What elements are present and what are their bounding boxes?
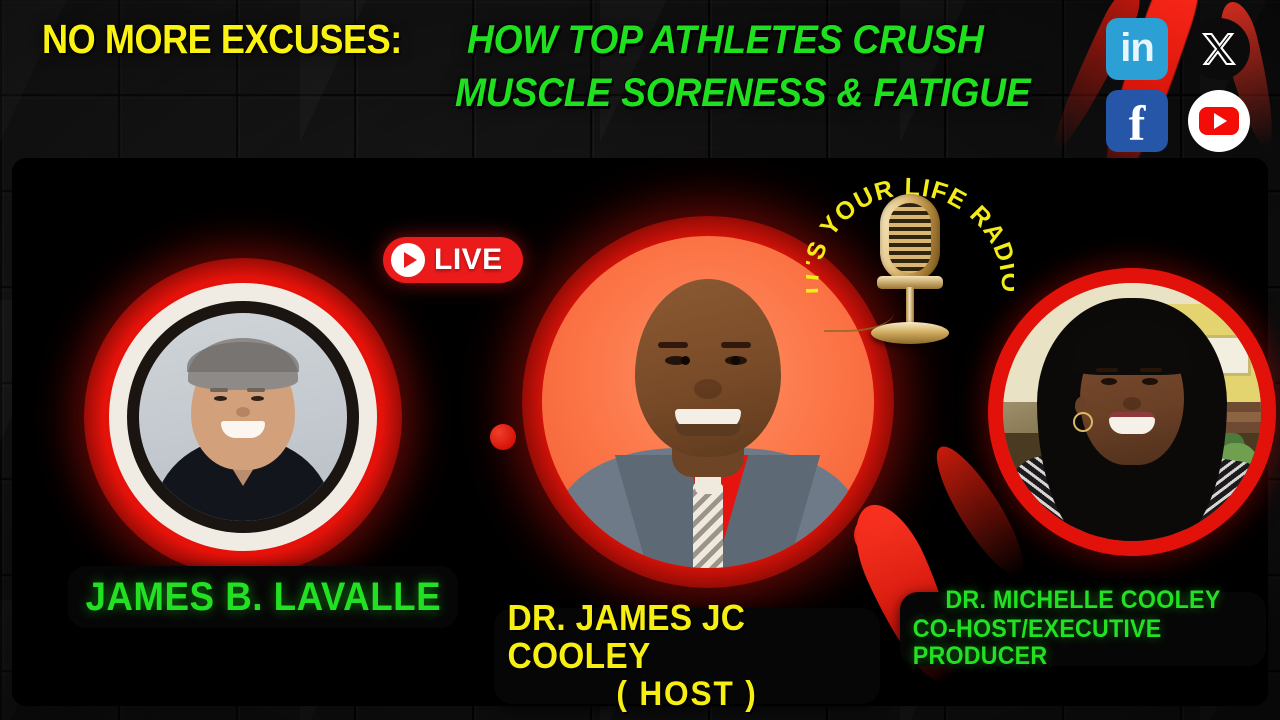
youtube-icon[interactable]	[1188, 90, 1250, 152]
headline-line-2: MUSCLE SORENESS & FATIGUE	[455, 71, 1030, 116]
avatar-photo-james-lavalle	[139, 313, 347, 521]
live-play-triangle	[404, 252, 417, 268]
nameplate-center-role: ( HOST )	[616, 677, 757, 713]
x-glyph	[1201, 31, 1237, 67]
avatar-ring-white	[109, 283, 377, 551]
headline-lead: NO MORE EXCUSES:	[42, 16, 402, 63]
microphone-icon	[870, 194, 950, 344]
nameplate-center-name: DR. JAMES JC COOLEY	[508, 599, 867, 675]
avatar-michelle-cooley[interactable]	[988, 268, 1276, 556]
linkedin-glyph: in	[1120, 28, 1154, 68]
live-label: LIVE	[434, 245, 503, 275]
youtube-play-triangle	[1214, 113, 1227, 129]
microphone-head	[880, 194, 940, 282]
live-play-icon	[391, 243, 425, 277]
facebook-icon[interactable]: f	[1106, 90, 1168, 152]
facebook-glyph: f	[1129, 98, 1146, 148]
avatar-photo-michelle-cooley	[1003, 283, 1261, 541]
nameplate-michelle-cooley: DR. MICHELLE COOLEY CO-HOST/EXECUTIVE PR…	[900, 592, 1266, 666]
microphone-base	[871, 322, 949, 344]
live-badge[interactable]: LIVE	[383, 237, 523, 283]
nameplate-james-jc-cooley: DR. JAMES JC COOLEY ( HOST )	[494, 608, 880, 704]
youtube-body	[1199, 107, 1239, 135]
headline: NO MORE EXCUSES: HOW TOP ATHLETES CRUSH …	[0, 16, 1080, 116]
portrait-art-lavalle	[139, 313, 347, 521]
nameplate-right-name: DR. MICHELLE COOLEY	[945, 587, 1220, 615]
avatar-james-lavalle[interactable]	[84, 258, 402, 576]
microphone-grill	[889, 203, 931, 273]
x-twitter-icon[interactable]	[1188, 18, 1250, 80]
nameplate-right-role: CO-HOST/EXECUTIVE PRODUCER	[913, 616, 1253, 671]
radio-show-logo: IT'S YOUR LIFE RADIO	[806, 164, 1014, 360]
stream-thumbnail: NO MORE EXCUSES: HOW TOP ATHLETES CRUSH …	[0, 0, 1280, 720]
red-dot-accent-left	[490, 424, 516, 450]
headline-line-1: HOW TOP ATHLETES CRUSH	[467, 18, 984, 63]
nameplate-left-name: JAMES B. LAVALLE	[85, 577, 441, 617]
linkedin-icon[interactable]: in	[1106, 18, 1168, 80]
social-links: in f	[1106, 18, 1256, 152]
portrait-art-michelle	[1003, 283, 1261, 541]
nameplate-james-lavalle: JAMES B. LAVALLE	[68, 566, 458, 628]
avatar-ring-dark	[127, 301, 359, 533]
